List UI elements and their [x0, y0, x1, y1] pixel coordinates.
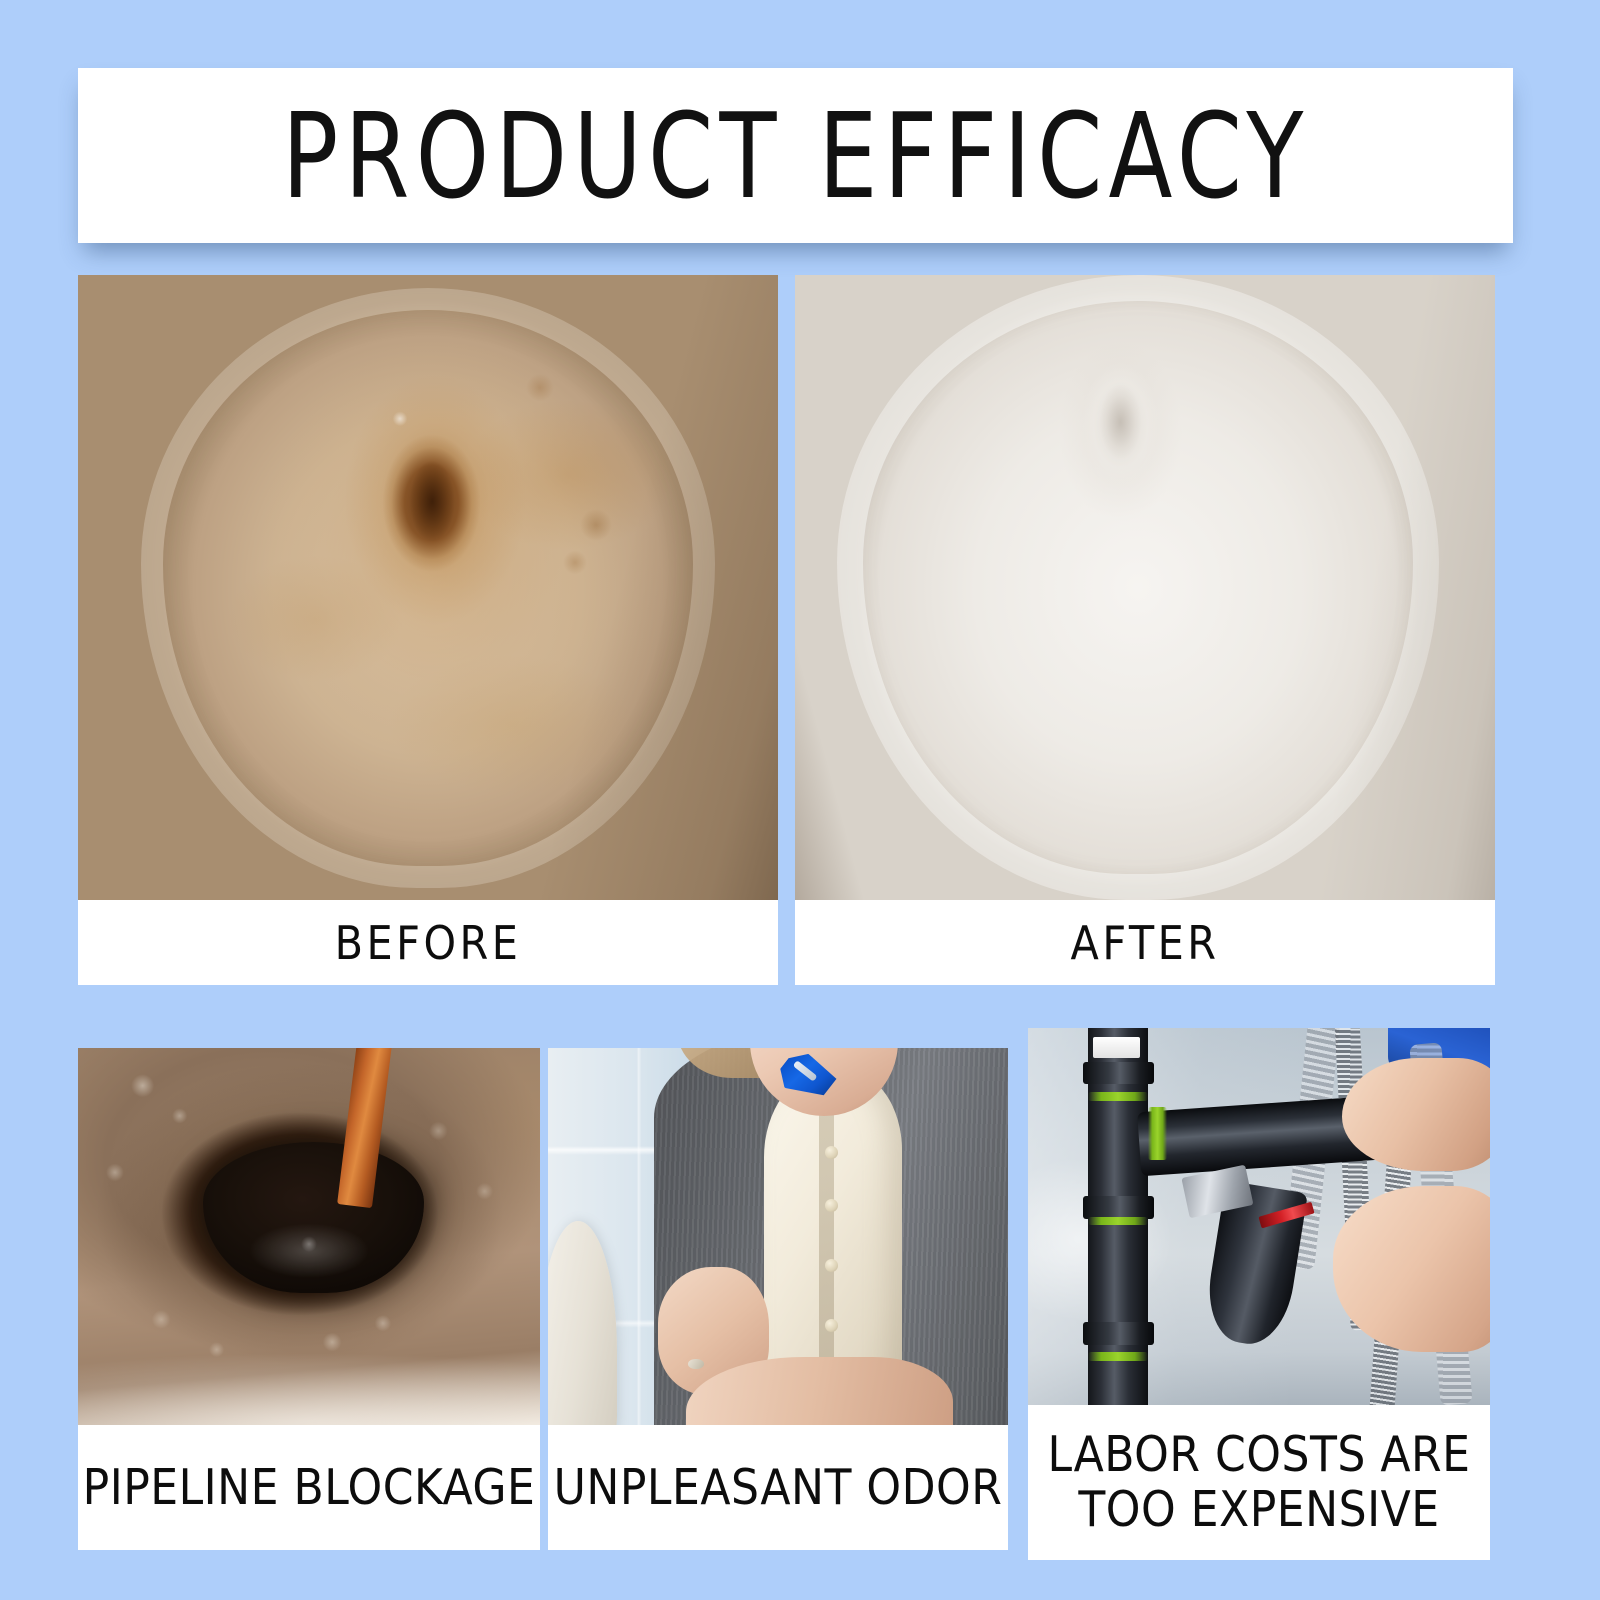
- woman-holding-nose-photo: [548, 1048, 1008, 1425]
- pipe-barcode-label: [1093, 1037, 1140, 1057]
- green-pipe-glue: [1088, 1092, 1148, 1101]
- stained-toilet-bowl-photo: [78, 275, 778, 900]
- labor-costs-caption-line-2: TOO EXPENSIVE: [1078, 1483, 1439, 1538]
- green-pipe-glue: [1088, 1217, 1148, 1225]
- bowl-rim-shape: [837, 275, 1439, 900]
- odor-image-art: [548, 1048, 1008, 1425]
- labor-costs-card: LABOR COSTS ARE TOO EXPENSIVE: [1028, 1028, 1490, 1560]
- plumber-hand-upper: [1342, 1058, 1490, 1171]
- pipe-collar: [1083, 1322, 1154, 1344]
- pipeline-blockage-caption: PIPELINE BLOCKAGE: [78, 1425, 540, 1550]
- plunger-cup-shape: [203, 1142, 425, 1293]
- labor-image-art: [1028, 1028, 1490, 1405]
- pipe-collar: [1083, 1062, 1154, 1084]
- labor-costs-caption: LABOR COSTS ARE TOO EXPENSIVE: [1028, 1405, 1490, 1560]
- infographic-page: PRODUCT EFFICACY BEFORE AFTER PIPELINE B…: [0, 0, 1600, 1600]
- unpleasant-odor-caption: UNPLEASANT ODOR: [548, 1425, 1008, 1550]
- before-caption: BEFORE: [78, 900, 778, 985]
- page-title: PRODUCT EFFICACY: [282, 97, 1309, 215]
- before-card: BEFORE: [78, 275, 778, 985]
- pipeline-blockage-card: PIPELINE BLOCKAGE: [78, 1048, 540, 1550]
- clean-toilet-bowl-photo: [795, 275, 1495, 900]
- title-banner: PRODUCT EFFICACY: [78, 68, 1513, 243]
- plunger-handle-shape: [337, 1048, 392, 1208]
- finger-ring-shape: [688, 1359, 704, 1369]
- bowl-rim-shape: [141, 288, 715, 888]
- unpleasant-odor-card: UNPLEASANT ODOR: [548, 1048, 1008, 1550]
- pipe-collar: [1083, 1196, 1154, 1218]
- before-image-art: [78, 275, 778, 900]
- green-pipe-glue: [1148, 1107, 1166, 1160]
- after-card: AFTER: [795, 275, 1495, 985]
- blouse-button: [825, 1259, 838, 1272]
- blockage-image-art: [78, 1048, 540, 1425]
- plunger-in-clogged-drain-photo: [78, 1048, 540, 1425]
- after-image-art: [795, 275, 1495, 900]
- blouse-button: [825, 1199, 838, 1212]
- green-pipe-glue: [1088, 1352, 1148, 1360]
- after-caption: AFTER: [795, 900, 1495, 985]
- blouse-button: [825, 1146, 838, 1159]
- plumber-repairing-pipes-photo: [1028, 1028, 1490, 1405]
- labor-costs-caption-line-1: LABOR COSTS ARE: [1047, 1428, 1470, 1483]
